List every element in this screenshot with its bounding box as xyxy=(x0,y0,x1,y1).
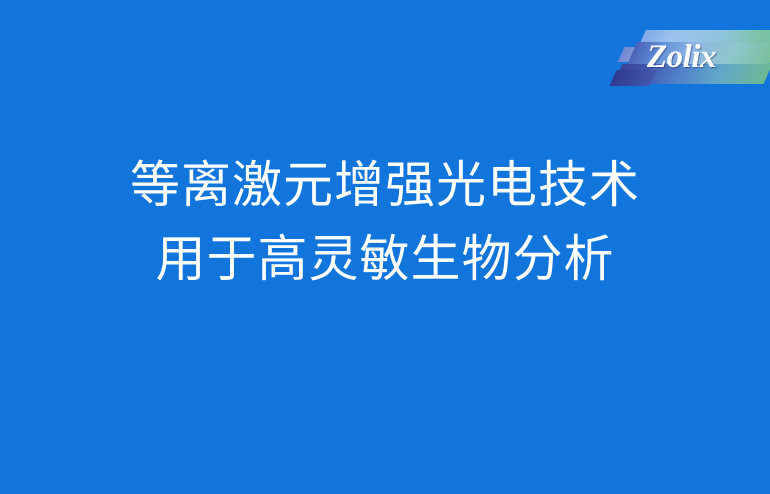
presentation-slide: Zolix 等离激元增强光电技术 用于高灵敏生物分析 xyxy=(0,0,770,494)
slide-title-block: 等离激元增强光电技术 用于高灵敏生物分析 xyxy=(0,148,770,296)
slide-title-line-2: 用于高灵敏生物分析 xyxy=(0,222,770,296)
zolix-logo: Zolix xyxy=(613,30,770,92)
slide-title-line-1: 等离激元增强光电技术 xyxy=(0,148,770,222)
logo-wordmark: Zolix xyxy=(647,39,767,75)
